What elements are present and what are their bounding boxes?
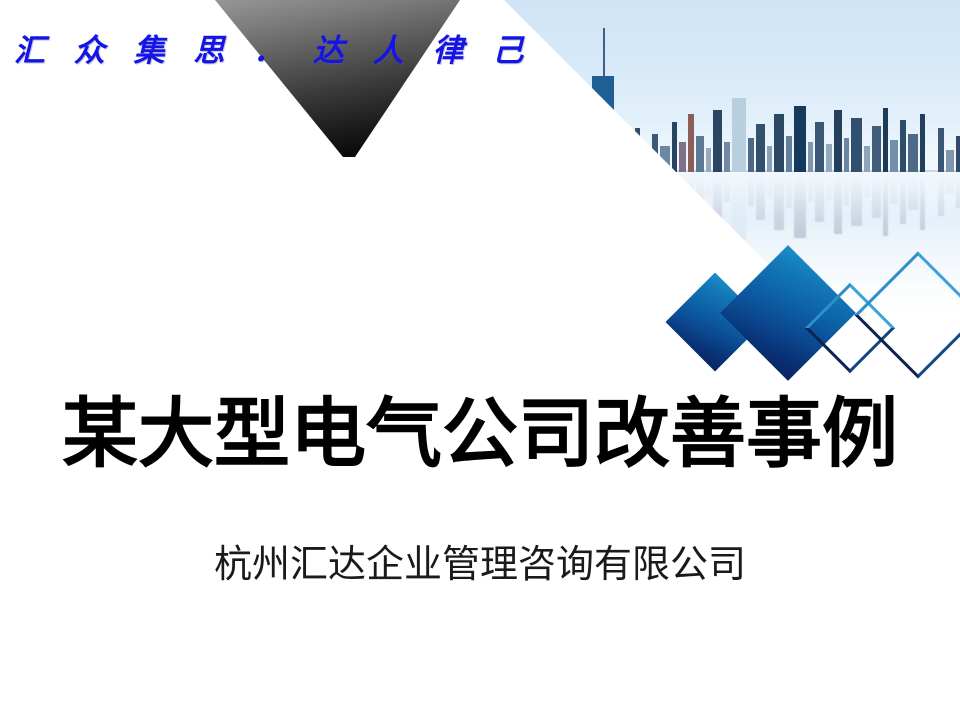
skyline-building [567, 152, 572, 172]
skyline-building [883, 172, 888, 236]
skyline-building [851, 118, 862, 172]
skyline-building [484, 172, 493, 200]
skyline-building [883, 108, 888, 172]
skyline-building [495, 172, 500, 186]
skyline-building [642, 172, 650, 190]
skyline-building [794, 172, 806, 238]
skyline-building [388, 172, 392, 186]
skyline-building [567, 172, 572, 192]
skyline-building [511, 172, 517, 194]
skyline-building [443, 172, 452, 184]
skyline-building [469, 172, 476, 205]
skyline-building [706, 148, 711, 172]
diamond-outline-large [854, 251, 960, 378]
skyline-building [660, 172, 670, 198]
skyline-building [574, 172, 581, 220]
skyline-building [635, 172, 640, 216]
skyline-building [724, 142, 730, 172]
skyline-building [864, 146, 870, 172]
skyline-building [826, 172, 832, 200]
skyline-building [786, 136, 792, 172]
skyline-building [574, 124, 581, 172]
skyline-building [592, 172, 614, 268]
skyline-building [652, 172, 658, 210]
skyline-building [946, 172, 954, 194]
skyline-building [834, 110, 842, 172]
skyline-building [927, 144, 936, 172]
skyline-building [672, 122, 677, 172]
skyline-building [556, 172, 565, 212]
skyline-building [454, 172, 460, 196]
skyline-building [616, 172, 622, 206]
dark-chevron-banner [0, 0, 460, 160]
skyline-building [844, 172, 849, 206]
skyline-building [679, 142, 686, 172]
skyline-building [420, 146, 424, 172]
presentation-slide: 汇 众 集 思 ． 达 人 律 己 某大型电气公司改善事例 杭州汇达企业管理咨询… [0, 0, 960, 720]
skyline-building [642, 154, 650, 172]
skyline-building [624, 150, 633, 172]
skyline-building [756, 172, 765, 220]
skyline-building [679, 172, 686, 202]
skyline-building [635, 128, 640, 172]
skyline-building [900, 172, 906, 224]
skyline-building [443, 160, 452, 172]
skyline-building [469, 139, 476, 172]
skyline-building [927, 172, 936, 200]
skyline-building [774, 172, 784, 230]
skyline-building [462, 172, 467, 189]
skyline-building [900, 120, 906, 172]
skyline-building [616, 138, 622, 172]
skyline-building [511, 150, 517, 172]
skyline-building [502, 134, 509, 172]
skyline-building [696, 136, 704, 172]
skyline-building [732, 172, 746, 246]
skyline-building [732, 98, 746, 172]
skyline-buildings [0, 52, 960, 172]
skyline-building [938, 172, 944, 216]
skyline-building [844, 138, 849, 172]
skyline-building [548, 172, 554, 198]
skyline-building [890, 140, 898, 172]
skyline-building [864, 172, 870, 198]
skyline-building [519, 172, 529, 216]
skyline-building [396, 162, 402, 172]
skyline-building [502, 172, 509, 210]
skyline-building [872, 126, 881, 172]
skyline-building [672, 172, 677, 222]
skyline-building [426, 172, 434, 190]
skyline-building [404, 150, 409, 172]
skyline-building [808, 172, 813, 202]
skyline-building [946, 150, 954, 172]
skyline-building [815, 122, 824, 172]
skyline-building [548, 146, 554, 172]
skyline-spire [603, 28, 605, 76]
skyline-building [706, 172, 711, 196]
skyline-building [956, 172, 960, 208]
skyline-building [592, 76, 614, 172]
skyline-building [834, 172, 842, 234]
skyline-building [404, 172, 409, 194]
skyline-building [396, 172, 402, 182]
skyline-building [724, 172, 730, 202]
skyline-spire [603, 268, 605, 313]
skyline-building [696, 172, 704, 208]
skyline-building [583, 172, 589, 202]
skyline-building [624, 172, 633, 194]
skyline-building [652, 134, 658, 172]
skyline-building [484, 144, 493, 172]
skyline-building [774, 114, 784, 172]
skyline-building [956, 136, 960, 172]
skyline-building [890, 172, 898, 204]
skyline-building [713, 172, 722, 234]
skyline-building [420, 172, 424, 198]
skyline-building [872, 172, 881, 218]
skyline-building [938, 128, 944, 172]
skyline-building [556, 132, 565, 172]
skyline-building [748, 138, 754, 172]
skyline-building [815, 172, 824, 222]
skyline-building [478, 152, 482, 172]
page-subtitle: 杭州汇达企业管理咨询有限公司 [0, 545, 960, 583]
skyline-building [495, 158, 500, 172]
skyline-building [767, 146, 772, 172]
skyline-building [538, 120, 546, 172]
skyline-building [713, 110, 722, 172]
skyline-building [688, 172, 694, 230]
skyline-building [478, 172, 482, 192]
skyline-building [688, 114, 694, 172]
skyline-building [531, 172, 536, 190]
skyline-building [519, 128, 529, 172]
skyline-building [826, 144, 832, 172]
skyline-building [426, 154, 434, 172]
skyline-building [388, 158, 392, 172]
skyline-building [794, 106, 806, 172]
skyline-building [436, 142, 441, 172]
skyline-building [748, 172, 754, 206]
skyline-building [808, 142, 813, 172]
page-title: 某大型电气公司改善事例 [0, 396, 960, 472]
skyline-building [538, 172, 546, 224]
skyline-building [920, 114, 925, 172]
diamond-decoration-group [660, 248, 960, 378]
skyline-building [411, 172, 418, 187]
skyline-building [908, 134, 918, 172]
skyline-building [756, 124, 765, 172]
skyline-building [920, 172, 925, 230]
skyline-building [851, 172, 862, 226]
skyline-building [436, 172, 441, 202]
company-slogan: 汇 众 集 思 ． 达 人 律 己 [14, 36, 532, 67]
skyline-building [908, 172, 918, 210]
skyline-building [411, 157, 418, 172]
skyline-building [531, 154, 536, 172]
skyline-building [767, 172, 772, 198]
skyline-building [786, 172, 792, 208]
skyline-building [660, 146, 670, 172]
skyline-building [583, 142, 589, 172]
skyline-building [454, 148, 460, 172]
skyline-building [462, 155, 467, 172]
